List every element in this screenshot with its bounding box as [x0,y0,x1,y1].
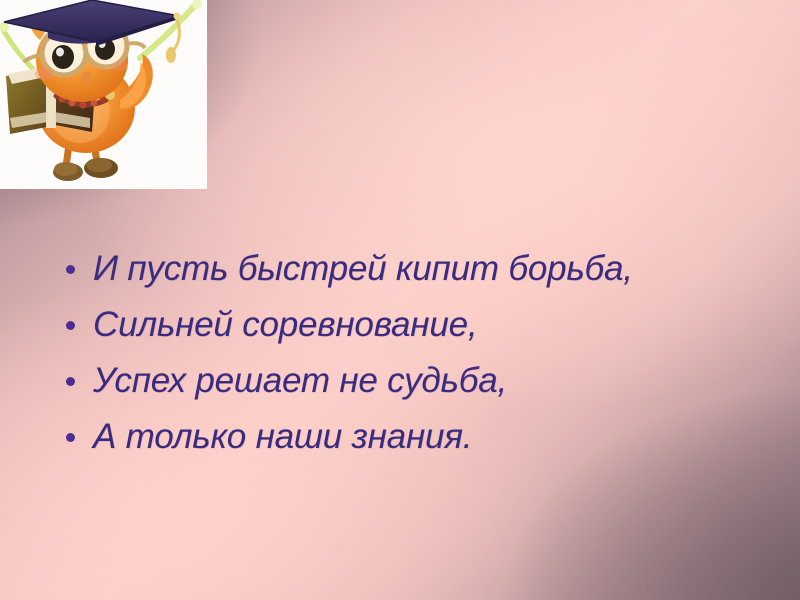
presentation-slide: И пусть быстрей кипит борьба, Сильней со… [0,0,800,600]
verse-line-text: Успех решает не судьба, [93,357,507,405]
verse-line-text: И пусть быстрей кипит борьба, [93,245,633,293]
bullet-icon [66,433,75,442]
bullet-icon [66,265,75,274]
verse-list: И пусть быстрей кипит борьба, Сильней со… [66,245,766,469]
list-item: А только наши знания. [66,413,766,469]
list-item: Успех решает не судьба, [66,357,766,413]
bullet-icon [66,321,75,330]
verse-line-text: Сильней соревнование, [93,301,477,349]
verse-line-text: А только наши знания. [93,413,472,461]
owl-scholar-icon [0,0,207,189]
list-item: Сильней соревнование, [66,301,766,357]
owl-clipart-block [0,0,207,189]
list-item: И пусть быстрей кипит борьба, [66,245,766,301]
bullet-icon [66,377,75,386]
